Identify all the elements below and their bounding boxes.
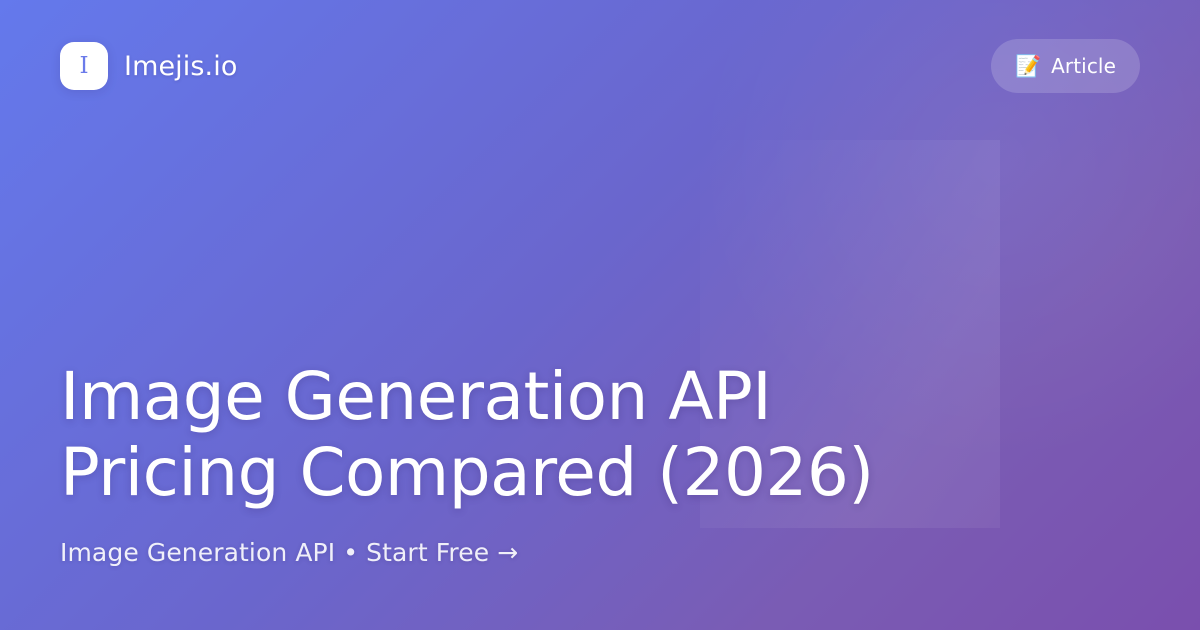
card-header: I Imejis.io 📝 Article xyxy=(60,38,1140,94)
memo-icon: 📝 xyxy=(1015,56,1041,77)
logo-letter: I xyxy=(79,55,88,78)
brand-lockup[interactable]: I Imejis.io xyxy=(60,42,237,90)
badge-label: Article xyxy=(1051,56,1116,76)
brand-name: Imejis.io xyxy=(124,53,237,80)
card-content: Image Generation API Pricing Compared (2… xyxy=(60,359,1140,568)
content-type-badge[interactable]: 📝 Article xyxy=(991,39,1140,93)
page-subtitle: Image Generation API • Start Free → xyxy=(60,538,1140,568)
imejis-logo-icon: I xyxy=(60,42,108,90)
og-social-card: I Imejis.io 📝 Article Image Generation A… xyxy=(0,0,1200,630)
page-title: Image Generation API Pricing Compared (2… xyxy=(60,359,940,512)
